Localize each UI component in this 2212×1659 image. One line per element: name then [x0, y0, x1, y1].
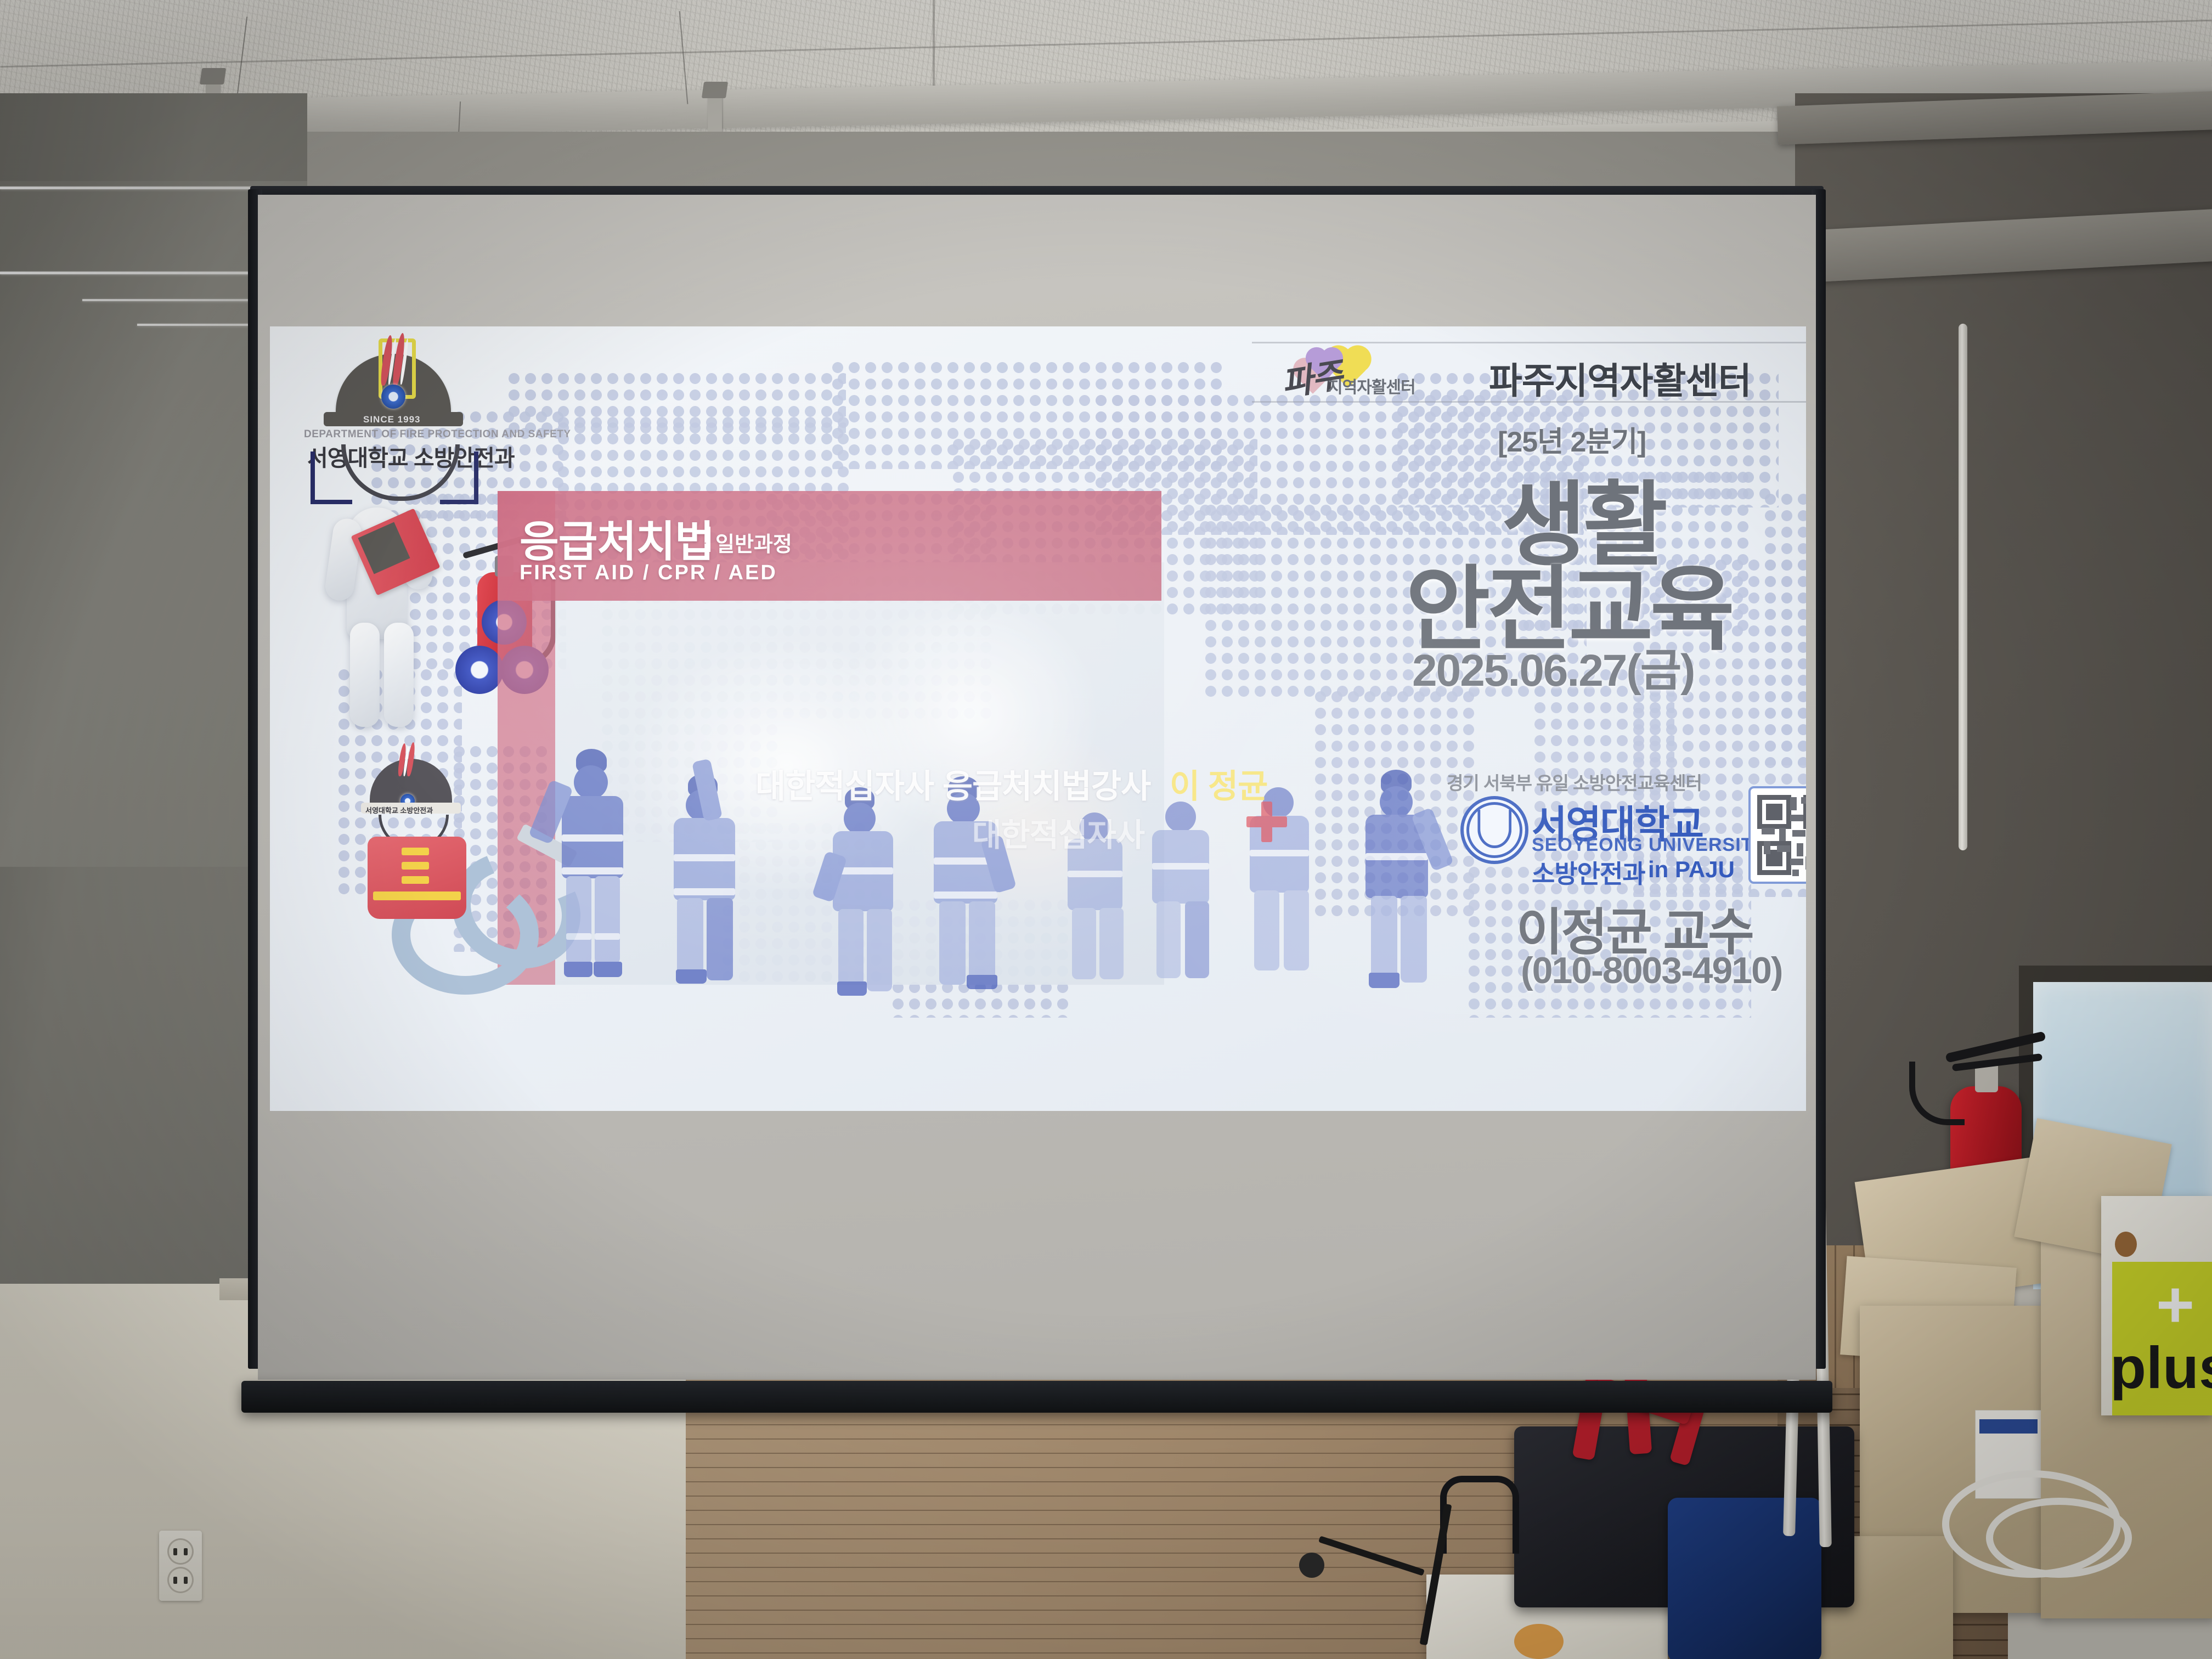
plus-label: plus	[2110, 1333, 2212, 1402]
header-rule-top	[1252, 342, 1806, 343]
department-name: 소방안전과	[1532, 854, 1645, 890]
window-frame	[2019, 966, 2212, 982]
cart-handle	[1440, 1476, 1519, 1554]
coat-stripe	[402, 862, 429, 870]
silhouette-figure	[654, 765, 758, 985]
ceiling-seam-vertical	[933, 0, 935, 99]
glass-reflection	[82, 299, 263, 301]
seal-inner-shape	[1477, 810, 1511, 848]
coiled-cable	[1986, 1498, 2132, 1578]
university-seal	[1460, 796, 1528, 864]
screen-surface: SINCE 1993 DEPARTMENT OF FIRE PROTECTION…	[258, 195, 1816, 1380]
extinguisher-decal	[455, 646, 504, 694]
center-name: 파주지역자활센터	[1489, 352, 1751, 404]
department-english-label: DEPARTMENT OF FIRE PROTECTION AND SAFETY	[304, 428, 571, 441]
instructor-name-overlay: 이 정균	[1170, 760, 1267, 808]
organization-overlay: 대한적십자사	[972, 809, 1144, 855]
footer-kicker: 경기 서북부 유일 소방안전교육센터	[1447, 769, 1702, 795]
plus-icon: +	[2156, 1278, 2194, 1331]
helmet-badge-icon	[381, 385, 405, 409]
classroom: + plus	[0, 0, 2212, 1659]
screen-bottom-bar	[241, 1381, 1832, 1413]
silhouette-figure	[1137, 798, 1235, 990]
smile-tail	[440, 500, 478, 504]
mascot-helmet-label: 서영대학교 소방안전과	[365, 805, 433, 815]
university-name-english: SEOYEONG UNIVERSITY	[1532, 834, 1766, 856]
since-label: SINCE 1993	[363, 414, 421, 425]
box-label-bar	[1979, 1419, 2038, 1434]
smile-tail	[474, 452, 478, 503]
banner-title: 응급처치법	[520, 507, 714, 569]
event-date: 2025.06.27(금)	[1412, 634, 1694, 699]
coat-stripe	[402, 876, 429, 884]
outlet-socket	[167, 1567, 194, 1593]
department-location: in PAJU	[1648, 856, 1735, 883]
banner-divider	[706, 527, 710, 552]
paju-logo-subtitle: 지역자활센터	[1328, 374, 1415, 398]
banner-english: FIRST AID / CPR / AED	[520, 561, 777, 585]
mascot-leg	[384, 623, 414, 727]
silhouette-figure	[1348, 765, 1458, 990]
light-tube	[1959, 324, 1967, 850]
coat-stripe	[402, 848, 429, 855]
box-sticker	[2115, 1232, 2137, 1257]
qr-code[interactable]	[1748, 786, 1806, 884]
silhouette-figure	[819, 782, 923, 996]
microphone-head	[1299, 1553, 1324, 1578]
mascot-leg	[350, 623, 380, 727]
coat-belt	[373, 891, 461, 900]
instructor-credential-line: 대한적십자사 응급처치법강사	[755, 760, 1150, 808]
photo-scene: + plus	[0, 0, 2212, 1659]
silhouette-figure	[533, 749, 643, 979]
blue-plastic-bag	[1668, 1498, 1821, 1659]
projection-screen: SINCE 1993 DEPARTMENT OF FIRE PROTECTION…	[258, 195, 1816, 1380]
smile-tail	[311, 452, 315, 503]
professor-phone: (010-8003-4910)	[1521, 949, 1782, 992]
banner-subtitle: 일반과정	[715, 527, 792, 557]
box-contents	[1514, 1624, 1564, 1659]
smile-tail	[311, 500, 352, 504]
projected-slide: SINCE 1993 DEPARTMENT OF FIRE PROTECTION…	[270, 326, 1806, 1111]
wall-outlet	[159, 1531, 202, 1601]
outlet-socket	[167, 1538, 194, 1565]
red-cross-icon	[1246, 802, 1287, 842]
